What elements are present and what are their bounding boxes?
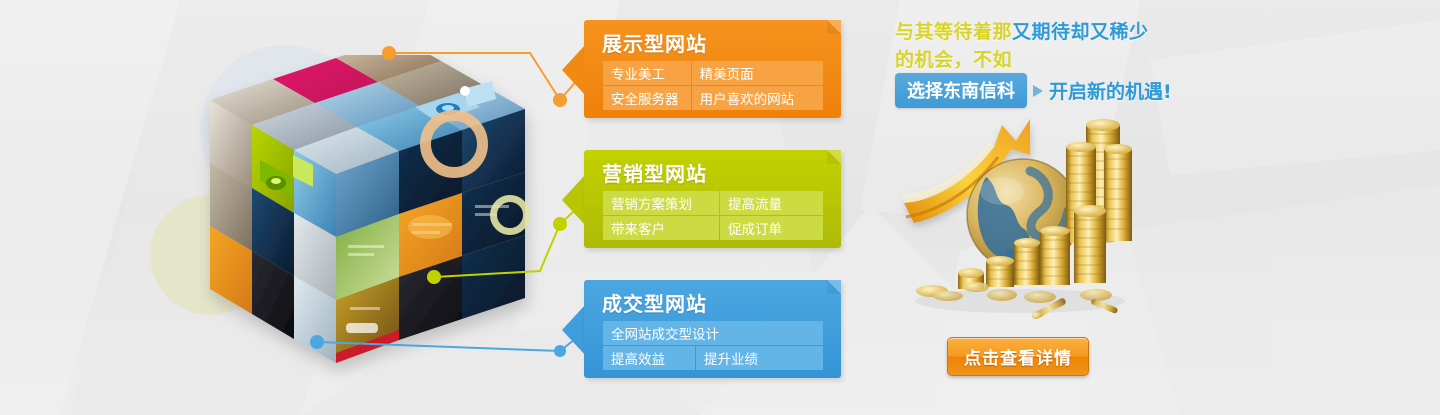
brand-chip-row: 选择东南信科 开启新的机遇! [895, 73, 1172, 108]
feature-cell: 提高效益 [603, 346, 695, 370]
headline-line-1: 与其等待着那又期待却又稀少 [895, 18, 1185, 46]
table-row: 安全服务器 用户喜欢的网站 [603, 86, 823, 110]
feature-cell: 安全服务器 [603, 86, 691, 110]
feature-cell: 营销方案策划 [603, 191, 719, 215]
banner-stage: 展示型网站 专业美工 精美页面 安全服务器 用户喜欢的网站 营销型网站 营销方案… [0, 0, 1440, 415]
panel-showcase-website[interactable]: 展示型网站 专业美工 精美页面 安全服务器 用户喜欢的网站 [584, 20, 841, 118]
feature-cell: 全网站成交型设计 [603, 321, 823, 345]
headline-tail: 开启新的机遇! [1049, 77, 1172, 104]
table-row: 营销方案策划 提高流量 [603, 191, 823, 215]
panel-arrow-notch [562, 304, 586, 356]
panel-fold-corner [827, 20, 841, 34]
feature-cell: 带来客户 [603, 216, 719, 240]
globe-coins-illustration [890, 105, 1135, 335]
globe-coins-svg [890, 105, 1135, 335]
feature-cell: 提高流量 [720, 191, 823, 215]
decor-ring-orange [420, 110, 488, 178]
brand-chip[interactable]: 选择东南信科 [895, 73, 1027, 108]
panel-feature-table: 专业美工 精美页面 安全服务器 用户喜欢的网站 [602, 60, 824, 111]
panel-arrow-notch [562, 44, 586, 96]
panel-title: 展示型网站 [602, 28, 707, 57]
panel-feature-table: 全网站成交型设计 提高效益 提升业绩 [602, 320, 824, 371]
headline-line-2: 的机会，不如 [895, 46, 1185, 74]
headline-line1-yellow: 与其等待着那 [895, 21, 1012, 43]
panel-fold-corner [827, 150, 841, 164]
view-details-button[interactable]: 点击查看详情 [947, 337, 1089, 376]
cube-illustration [180, 55, 570, 385]
arrow-right-icon [1033, 85, 1043, 97]
panel-arrow-notch [562, 174, 586, 226]
right-promo-column: 与其等待着那又期待却又稀少 的机会，不如 选择东南信科 开启新的机遇! [890, 0, 1190, 415]
decor-ring-olive [490, 195, 530, 235]
table-row: 带来客户 促成订单 [603, 216, 823, 240]
panel-conversion-website[interactable]: 成交型网站 全网站成交型设计 提高效益 提升业绩 [584, 280, 841, 378]
panel-fold-corner [827, 280, 841, 294]
panel-marketing-website[interactable]: 营销型网站 营销方案策划 提高流量 带来客户 促成订单 [584, 150, 841, 248]
feature-cell: 用户喜欢的网站 [692, 86, 823, 110]
panel-title: 营销型网站 [602, 158, 707, 187]
headline-line1-blue: 又期待却又稀少 [1012, 21, 1149, 43]
table-row: 专业美工 精美页面 [603, 61, 823, 85]
feature-cell: 专业美工 [603, 61, 691, 85]
table-row: 提高效益 提升业绩 [603, 346, 823, 370]
feature-cell: 精美页面 [692, 61, 823, 85]
feature-cell: 提升业绩 [696, 346, 823, 370]
promo-headline: 与其等待着那又期待却又稀少 的机会，不如 [895, 18, 1185, 74]
table-row: 全网站成交型设计 [603, 321, 823, 345]
panel-title: 成交型网站 [602, 288, 707, 317]
panel-feature-table: 营销方案策划 提高流量 带来客户 促成订单 [602, 190, 824, 241]
feature-cell: 促成订单 [720, 216, 823, 240]
